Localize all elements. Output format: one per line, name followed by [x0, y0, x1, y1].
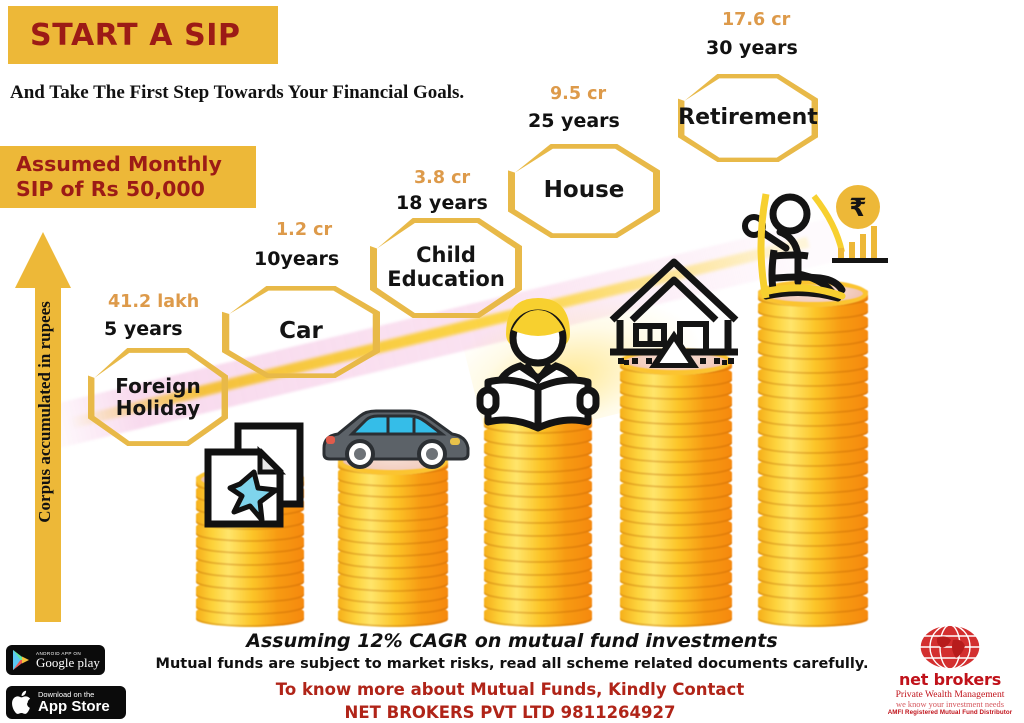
coin-stack-2	[338, 452, 448, 627]
coin-stack-5	[758, 284, 868, 627]
contact-line-2: NET BROKERS PVT LTD 9811264927	[110, 703, 910, 722]
milestone-label-4: House	[544, 178, 625, 204]
milestone-years-1: 5 years	[104, 318, 183, 340]
milestone-amount-2: 1.2 cr	[276, 220, 332, 240]
milestone-badge-5[interactable]: Retirement	[678, 74, 818, 162]
milestone-amount-5: 17.6 cr	[722, 10, 790, 30]
label-line-1: Foreign	[115, 375, 200, 397]
google-play-badge[interactable]: ANDROID APP ON Google play	[6, 645, 105, 675]
app-store-big-text: App Store	[38, 699, 110, 715]
page-title: START A SIP	[30, 18, 241, 53]
milestone-amount-3: 3.8 cr	[414, 168, 470, 188]
logo-name: net brokers	[880, 670, 1020, 689]
apple-logo-icon	[12, 690, 33, 715]
milestone-badge-4[interactable]: House	[508, 144, 660, 238]
student-icon	[476, 288, 600, 436]
svg-text:₹: ₹	[849, 193, 866, 222]
coin-stack-4	[620, 352, 732, 627]
logo-tagline-2: we know your investment needs	[880, 700, 1020, 709]
milestone-years-3: 18 years	[396, 192, 488, 214]
milestone-years-4: 25 years	[528, 110, 620, 132]
milestone-amount-4: 9.5 cr	[550, 84, 606, 104]
milestone-years-5: 30 years	[706, 37, 798, 59]
y-axis-label: Corpus accumulated in rupees	[35, 232, 55, 592]
milestone-years-2: 10years	[254, 248, 339, 270]
assumption-text: Assuming 12% CAGR on mutual fund investm…	[0, 630, 1024, 652]
google-play-big-text: Google play	[36, 656, 100, 670]
milestone-label-5: Retirement	[678, 106, 818, 131]
label-line-2: Holiday	[115, 397, 200, 419]
contact-line-1: To know more about Mutual Funds, Kindly …	[110, 680, 910, 699]
milestone-amount-1: 41.2 lakh	[108, 292, 199, 312]
logo-tagline-3: AMFI Registered Mutual Fund Distributor	[880, 709, 1020, 716]
google-play-icon	[11, 649, 31, 671]
sip-infographic: START A SIP And Take The First Step Towa…	[0, 0, 1024, 723]
milestone-label-3: ChildEducation	[387, 244, 505, 291]
company-logo: net brokers Private Wealth Management we…	[880, 624, 1020, 722]
y-axis-arrow: Corpus accumulated in rupees	[15, 232, 71, 622]
car-icon	[318, 404, 470, 470]
house-icon	[604, 248, 744, 368]
assumed-sip-line1: Assumed Monthly	[16, 152, 222, 177]
globe-icon	[919, 624, 981, 670]
milestone-badge-2[interactable]: Car	[222, 286, 380, 378]
label-line-2: Education	[387, 268, 505, 292]
milestone-badge-3[interactable]: ChildEducation	[370, 218, 522, 318]
milestone-badge-1[interactable]: ForeignHoliday	[88, 348, 228, 446]
milestone-label-2: Car	[279, 319, 323, 345]
milestone-label-1: ForeignHoliday	[115, 375, 200, 420]
disclaimer-text: Mutual funds are subject to market risks…	[0, 656, 1024, 672]
logo-tagline-1: Private Wealth Management	[880, 689, 1020, 700]
growth-bars-icon	[832, 222, 892, 264]
assumed-sip-banner: Assumed Monthly SIP of Rs 50,000	[0, 146, 256, 208]
title-banner: START A SIP	[8, 6, 278, 64]
assumed-sip-line2: SIP of Rs 50,000	[16, 177, 205, 202]
app-store-badge[interactable]: Download on the App Store	[6, 686, 126, 719]
air-ticket-icon	[196, 420, 316, 532]
label-line-1: Child	[387, 244, 505, 268]
